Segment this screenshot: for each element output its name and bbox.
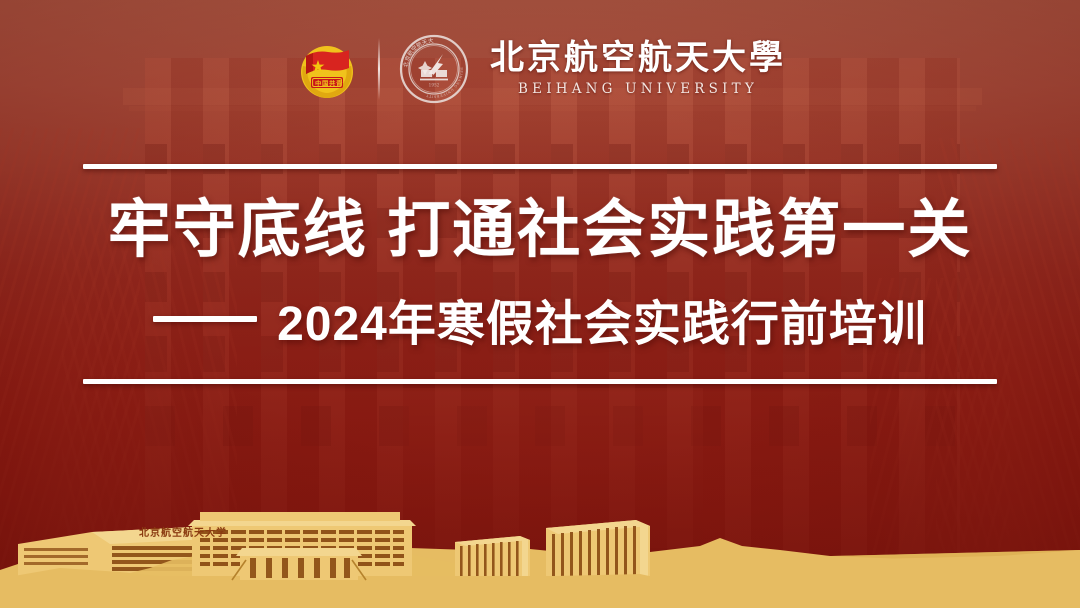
svg-text:1952: 1952 xyxy=(429,83,440,88)
svg-text:北京航空航天大学: 北京航空航天大学 xyxy=(398,33,434,68)
header-divider xyxy=(378,38,380,100)
poster-slide: 中国 共青 北京航空航天大学 BEIHANG UNIVERSITY xyxy=(0,0,1080,608)
subtitle-row: 2024年寒假社会实践行前培训 xyxy=(153,284,927,354)
page-title: 牢守底线 打通社会实践第一关 xyxy=(108,196,973,264)
rule-bottom xyxy=(83,379,997,384)
svg-text:青: 青 xyxy=(336,78,343,87)
svg-text:中: 中 xyxy=(315,78,321,87)
school-name-block: 北京航空航天大學 BEIHANG UNIVERSITY xyxy=(490,41,786,96)
header: 中国 共青 北京航空航天大学 BEIHANG UNIVERSITY xyxy=(0,0,1080,138)
page-subtitle: 2024年寒假社会实践行前培训 xyxy=(277,284,927,354)
rule-top xyxy=(83,164,997,169)
beihang-university-seal-icon: 北京航空航天大学 BEIHANG UNIVERSITY 1952 xyxy=(398,33,470,105)
svg-text:国: 国 xyxy=(322,78,328,87)
school-name-en: BEIHANG UNIVERSITY xyxy=(518,81,758,97)
campus-skyline-silhouette xyxy=(0,498,1080,608)
title-block: 牢守底线 打通社会实践第一关 2024年寒假社会实践行前培训 xyxy=(0,150,1080,384)
school-name-cn: 北京航空航天大學 xyxy=(490,41,786,76)
skyline-hall-name: 北京航空航天大学 xyxy=(139,524,227,539)
subtitle-dash-icon xyxy=(153,316,257,322)
svg-text:共: 共 xyxy=(329,78,336,87)
communist-youth-league-emblem-icon: 中国 共青 xyxy=(294,36,360,102)
